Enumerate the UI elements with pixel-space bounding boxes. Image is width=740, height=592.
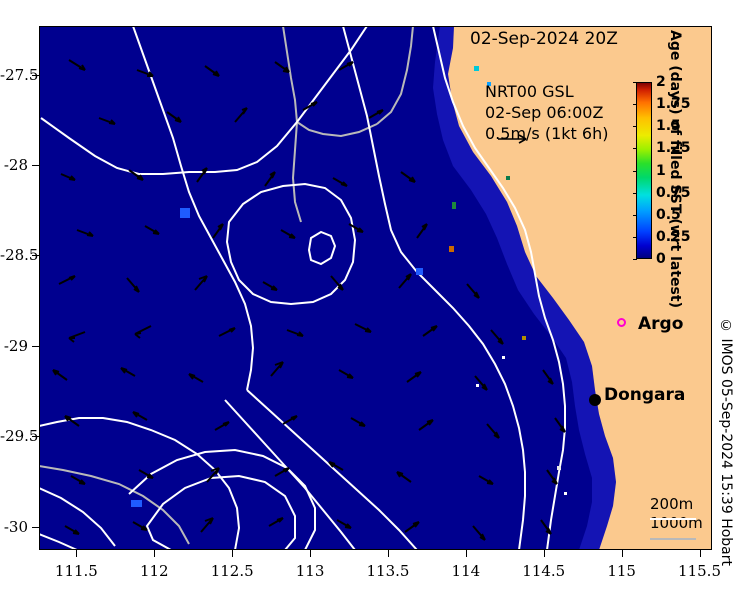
colorbar[interactable] [636, 82, 652, 259]
map-plot-area[interactable] [39, 26, 712, 550]
colorbar-tick-mark [633, 126, 637, 127]
credit-label: © IMOS 05-Sep-2024 15:39 Hobart [718, 318, 734, 566]
y-tick-label: -27.5 [0, 66, 28, 84]
depth-1000m-label: 1000m [650, 514, 703, 533]
depth-legend: 200m 1000m [650, 495, 703, 533]
colorbar-tick-label: 1 [656, 163, 666, 179]
y-tick-label: -28 [0, 156, 28, 174]
depth-200m-line-swatch [650, 518, 696, 520]
y-tick-label: -30 [0, 518, 28, 536]
map-canvas [39, 26, 712, 550]
x-tick-label: 112 [140, 562, 169, 580]
argo-marker-icon [617, 318, 626, 327]
x-tick-label: 112.5 [211, 562, 254, 580]
colorbar-tick-label: 0 [656, 251, 666, 267]
y-tick-mark [32, 165, 39, 166]
colorbar-tick-mark [633, 193, 637, 194]
y-tick-mark [32, 527, 39, 528]
colorbar-tick-mark [633, 148, 637, 149]
y-tick-label: -29.5 [0, 427, 28, 445]
x-tick-label: 115.5 [678, 562, 721, 580]
x-tick-mark [232, 550, 233, 557]
colorbar-tick-mark [633, 215, 637, 216]
colorbar-title: Age (days) of filled SST (wrt latest) [667, 30, 683, 308]
x-tick-label: 111.5 [55, 562, 98, 580]
x-tick-mark [310, 550, 311, 557]
x-tick-mark [700, 550, 701, 557]
vector-time-label: 02-Sep 06:00Z [485, 102, 608, 123]
vector-source-label: NRT00 GSL [485, 81, 608, 102]
x-tick-label: 114.5 [522, 562, 565, 580]
y-tick-label: -28.5 [0, 246, 28, 264]
x-tick-label: 114 [452, 562, 481, 580]
x-tick-mark [622, 550, 623, 557]
x-tick-mark [466, 550, 467, 557]
x-tick-label: 113.5 [366, 562, 409, 580]
valid-time-label: 02-Sep-2024 20Z [470, 29, 618, 49]
x-tick-mark [154, 550, 155, 557]
x-tick-mark [544, 550, 545, 557]
right-arrow-icon [497, 132, 533, 146]
x-tick-mark [76, 550, 77, 557]
x-tick-label: 115 [607, 562, 636, 580]
dongara-label: Dongara [604, 385, 685, 405]
colorbar-tick-mark [633, 104, 637, 105]
colorbar-tick-mark [633, 237, 637, 238]
figure-root: 02-Sep-2024 20Z NRT00 GSL 02-Sep 06:00Z … [0, 0, 740, 592]
x-tick-label: 113 [296, 562, 325, 580]
colorbar-tick-label: 2 [656, 74, 666, 90]
depth-1000m-line-swatch [650, 538, 696, 540]
argo-label: Argo [638, 314, 683, 334]
x-tick-mark [388, 550, 389, 557]
colorbar-tick-mark [633, 171, 637, 172]
colorbar-tick-mark [633, 259, 637, 260]
y-tick-mark [32, 346, 39, 347]
dongara-marker-icon [589, 394, 601, 406]
depth-200m-label: 200m [650, 495, 703, 514]
y-tick-label: -29 [0, 337, 28, 355]
colorbar-tick-mark [633, 82, 637, 83]
